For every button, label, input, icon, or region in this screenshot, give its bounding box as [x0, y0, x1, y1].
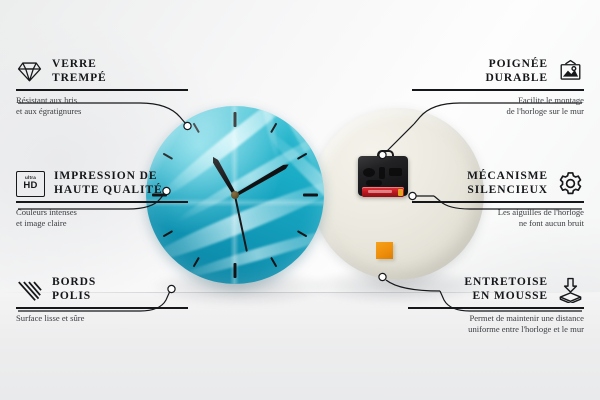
- feature-subtitle-line1: Surface lisse et sûre: [16, 313, 188, 324]
- feature-subtitle-line1: Facilite le montage: [412, 95, 584, 106]
- feature-divider: [412, 201, 584, 203]
- diamond-icon: [16, 58, 43, 85]
- feature-verre-trempe[interactable]: VERRE TREMPÉ Résistant aux bris et aux é…: [16, 58, 188, 117]
- feature-subtitle-line1: Permet de maintenir une distance: [408, 313, 584, 324]
- feature-divider: [16, 201, 188, 203]
- connector-dot-entretoise: [379, 273, 386, 280]
- feature-divider: [408, 307, 584, 309]
- feature-title: IMPRESSION DE HAUTE QUALITÉ: [54, 170, 163, 197]
- feature-header: BORDS POLIS: [16, 276, 188, 303]
- feature-subtitle-line1: Couleurs intenses: [16, 207, 188, 218]
- feature-poignee-durable[interactable]: POIGNÉE DURABLE Facilite le montage de l…: [412, 58, 584, 117]
- feature-subtitle-line1: Les aiguilles de l'horloge: [412, 207, 584, 218]
- ultra-hd-icon-bottom-text: HD: [23, 181, 37, 191]
- feature-header: POIGNÉE DURABLE: [412, 58, 584, 85]
- feature-entretoise-mousse[interactable]: ENTRETOISE EN MOUSSE Permet de maintenir…: [408, 276, 584, 335]
- gear-icon: [557, 170, 584, 197]
- feature-subtitle-line2: ne font aucun bruit: [412, 218, 584, 229]
- feature-title: BORDS POLIS: [52, 276, 96, 303]
- feature-divider: [16, 89, 188, 91]
- feature-mecanisme-silencieux[interactable]: MÉCANISME SILENCIEUX Les aiguilles de l'…: [412, 170, 584, 229]
- feature-subtitle-line1: Résistant aux bris: [16, 95, 188, 106]
- connector-dot-verre-trempe: [184, 122, 191, 129]
- polished-edges-icon: [16, 276, 43, 303]
- feature-bords-polis[interactable]: BORDS POLIS Surface lisse et sûre: [16, 276, 188, 324]
- feature-header: MÉCANISME SILENCIEUX: [412, 170, 584, 197]
- feature-divider: [16, 307, 188, 309]
- feature-header: ultra HD IMPRESSION DE HAUTE QUALITÉ: [16, 170, 188, 197]
- feature-title: POIGNÉE DURABLE: [485, 58, 548, 85]
- feature-title: MÉCANISME SILENCIEUX: [467, 170, 548, 197]
- ultra-hd-icon: ultra HD: [16, 171, 45, 197]
- connector-tail-poignee: [386, 124, 414, 152]
- feature-impression-hd[interactable]: ultra HD IMPRESSION DE HAUTE QUALITÉ Cou…: [16, 170, 188, 229]
- feature-title: VERRE TREMPÉ: [52, 58, 107, 85]
- feature-divider: [412, 89, 584, 91]
- feature-subtitle-line2: et aux égratignures: [16, 106, 188, 117]
- feature-subtitle-line2: uniforme entre l'horloge et le mur: [408, 324, 584, 335]
- feature-subtitle-line2: de l'horloge sur le mur: [412, 106, 584, 117]
- feature-title: ENTRETOISE EN MOUSSE: [464, 276, 548, 303]
- feature-subtitle-line2: et image claire: [16, 218, 188, 229]
- feature-header: VERRE TREMPÉ: [16, 58, 188, 85]
- foam-spacer-icon: [557, 276, 584, 303]
- picture-hanger-icon: [557, 58, 584, 85]
- feature-header: ENTRETOISE EN MOUSSE: [408, 276, 584, 303]
- product-infographic: VERRE TREMPÉ Résistant aux bris et aux é…: [0, 0, 600, 400]
